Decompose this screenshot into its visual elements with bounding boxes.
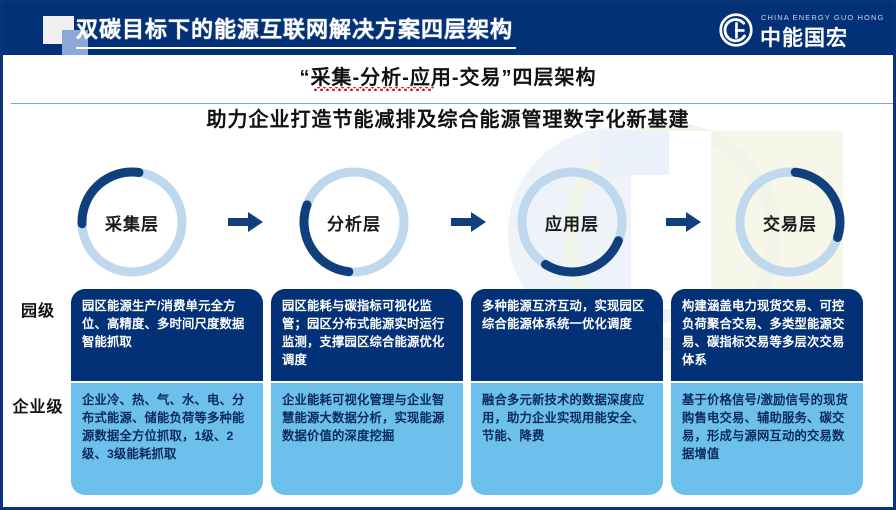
layer-ring-4: 交易层 [731, 163, 849, 281]
layer-ring-label: 交易层 [731, 163, 849, 281]
layer-ring-label: 采集层 [73, 163, 191, 281]
card-park-level[interactable]: 园区能耗与碳指标可视化监管；园区分布式能源实时运行监测，支撑园区综合能源优化调度 [271, 289, 463, 381]
logo-chinese-text: 中能国宏 [760, 22, 848, 52]
layer-ring-label: 分析层 [295, 163, 413, 281]
slide-header: 双碳目标下的能源互联网解决方案四层架构 CHINA ENERGY GUO HON… [3, 3, 893, 55]
card-column-3: 多种能源互济互动，实现园区综合能源体系统一优化调度融合多元新技术的数据深度应用，… [471, 289, 663, 495]
card-column-4: 构建涵盖电力现货交易、可控负荷聚合交易、多类型能源交易、碳指标交易等多层次交易体… [671, 289, 863, 495]
card-enterprise-level[interactable]: 企业能耗可视化管理与企业智慧能源大数据分析，实现能源数据价值的深度挖掘 [271, 383, 463, 495]
circle-g-logo-icon [719, 13, 753, 47]
card-park-level[interactable]: 园区能源生产/消费单元全方位、高精度、多时间尺度数据智能抓取 [71, 289, 263, 381]
layer-ring-2: 分析层 [295, 163, 413, 281]
logo-english-text: CHINA ENERGY GUO HONG [761, 13, 884, 22]
spellcheck-squiggle-icon [314, 87, 434, 91]
card-enterprise-level[interactable]: 基于价格信号/激励信号的现货购售电交易、辅助服务、碳交易，形成与源网互动的交易数… [671, 383, 863, 495]
title-underline [76, 47, 516, 49]
slide-canvas: 双碳目标下的能源互联网解决方案四层架构 CHINA ENERGY GUO HON… [0, 0, 896, 510]
arrow-right-icon [228, 211, 264, 233]
card-column-2: 园区能耗与碳指标可视化监管；园区分布式能源实时运行监测，支撑园区综合能源优化调度… [271, 289, 463, 495]
card-enterprise-level[interactable]: 融合多元新技术的数据深度应用，助力企业实现用能安全、节能、降费 [471, 383, 663, 495]
headline-block: “采集-分析-应用-交易”四层架构 助力企业打造节能减排及综合能源管理数字化新基… [3, 61, 893, 132]
arrow-right-icon [666, 211, 702, 233]
layer-ring-3: 应用层 [513, 163, 631, 281]
card-column-1: 园区能源生产/消费单元全方位、高精度、多时间尺度数据智能抓取企业冷、热、气、水、… [71, 289, 263, 495]
page-title: 双碳目标下的能源互联网解决方案四层架构 [76, 12, 513, 44]
layer-ring-label: 应用层 [513, 163, 631, 281]
headline-line-1-text: “采集-分析-应用-交易”四层架构 [300, 67, 597, 89]
row-divider [11, 103, 893, 104]
headline-line-1: “采集-分析-应用-交易”四层架构 [300, 61, 597, 90]
card-enterprise-level[interactable]: 企业冷、热、气、水、电、分布式能源、储能负荷等多种能源数据全方位抓取，1级、2级… [71, 383, 263, 495]
arrow-right-icon [451, 211, 487, 233]
card-park-level[interactable]: 构建涵盖电力现货交易、可控负荷聚合交易、多类型能源交易、碳指标交易等多层次交易体… [671, 289, 863, 381]
card-grid: 园区能源生产/消费单元全方位、高精度、多时间尺度数据智能抓取企业冷、热、气、水、… [3, 289, 893, 505]
card-park-level[interactable]: 多种能源互济互动，实现园区综合能源体系统一优化调度 [471, 289, 663, 381]
headline-line-2: 助力企业打造节能减排及综合能源管理数字化新基建 [3, 103, 893, 132]
layer-ring-row: 采集层分析层应用层交易层 [3, 163, 893, 281]
layer-ring-1: 采集层 [73, 163, 191, 281]
company-logo: CHINA ENERGY GUO HONG 中能国宏 [719, 10, 879, 50]
